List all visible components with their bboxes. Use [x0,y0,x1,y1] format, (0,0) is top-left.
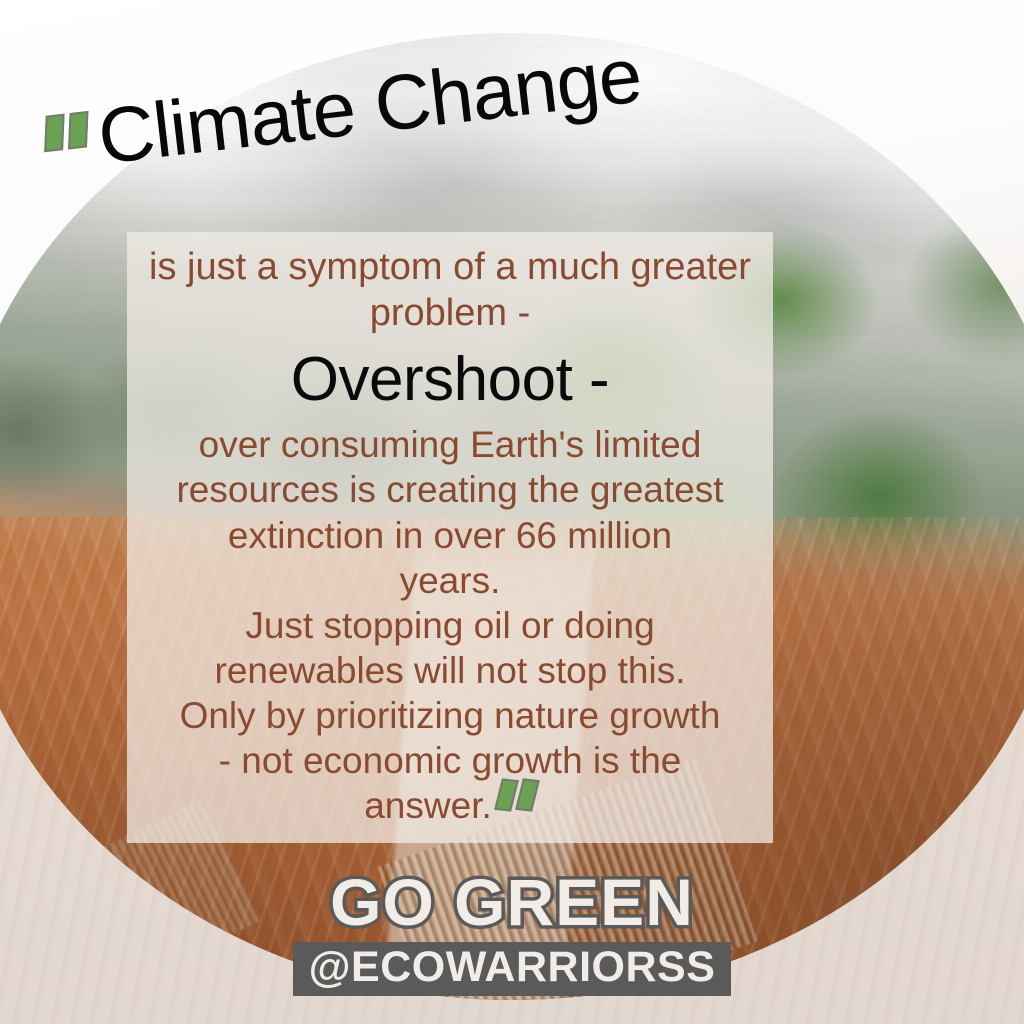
body-line: Just stopping oil or doing [137,603,763,648]
body-line: resources is creating the greatest [137,467,763,512]
body-line: extinction in over 66 million [137,513,763,558]
body-line: - not economic growth is the [137,738,763,783]
body-line: Only by prioritizing nature growth [137,693,763,738]
copy-panel: is just a symptom of a much greater prob… [127,232,773,843]
green-quote-open-icon [43,111,90,152]
keyword-heading: Overshoot - [137,337,763,423]
body-line: over consuming Earth's limited [137,422,763,467]
body-final-line-group: answer. [137,783,763,828]
body-line: renewables will not stop this. [137,648,763,693]
body-line: answer. [364,785,492,826]
green-quote-close-icon [498,779,536,811]
poster-canvas: Climate Change is just a symptom of a mu… [0,0,1024,1024]
lead-text: is just a symptom of a much greater prob… [137,244,763,337]
brand-title: GO GREEN [0,869,1024,936]
brand-handle-bar: @ECOWARRIORSS [293,942,732,996]
body-line: years. [137,558,763,603]
brand-handle: @ECOWARRIORSS [309,945,716,990]
body-copy: over consuming Earth's limited resources… [137,422,763,828]
copy-panel-inner: is just a symptom of a much greater prob… [127,232,773,828]
brand-footer: GO GREEN @ECOWARRIORSS [0,869,1024,996]
